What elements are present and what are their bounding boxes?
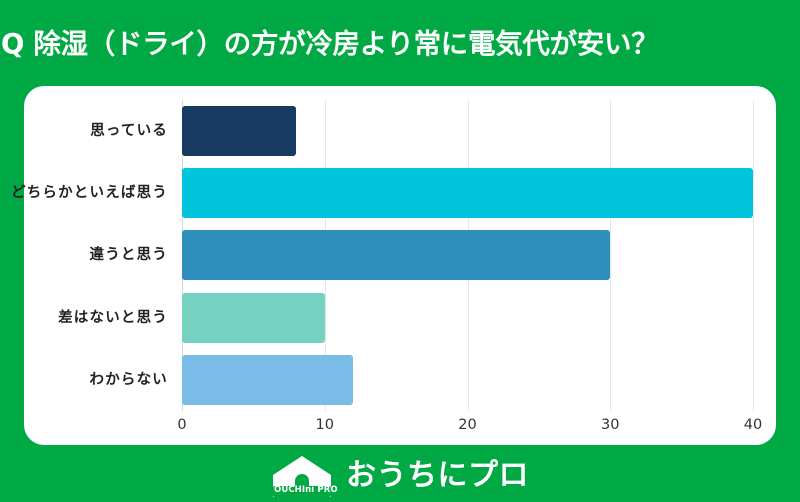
category-label: 差はないと思う xyxy=(58,287,168,349)
logo-wordmark: OUCHIni PRO xyxy=(274,485,330,496)
footer-logo: OUCHIni PRO おうちにプロ xyxy=(0,452,800,500)
logo-text: おうちにプロ xyxy=(346,461,529,491)
bar-row xyxy=(182,162,753,224)
page-title: Q 除湿（ドライ）の方が冷房より常に電気代が安い？ xyxy=(0,22,800,66)
x-tick-label: 30 xyxy=(601,417,619,433)
bar-1 xyxy=(182,106,296,156)
category-label: どちらかといえば思う xyxy=(11,162,168,224)
x-tick-label: 10 xyxy=(316,417,334,433)
bar-row xyxy=(182,100,753,162)
bar-5 xyxy=(182,355,353,405)
bar-2 xyxy=(182,168,753,218)
chart-card: 010203040 思っているどちらかといえば思う違うと思う差はないと思うわから… xyxy=(24,86,776,445)
chart-plot-area: 010203040 xyxy=(182,100,753,411)
category-label: 思っている xyxy=(90,100,168,162)
house-icon: OUCHIni PRO xyxy=(271,455,333,498)
x-tick-label: 40 xyxy=(744,417,762,433)
x-tick-label: 20 xyxy=(458,417,476,433)
bar-row xyxy=(182,287,753,349)
gridline-40 xyxy=(753,100,754,411)
bar-row xyxy=(182,349,753,411)
category-label: わからない xyxy=(90,349,169,411)
bar-4 xyxy=(182,293,325,343)
slide-canvas: Q 除湿（ドライ）の方が冷房より常に電気代が安い？ 010203040 思ってい… xyxy=(0,0,800,500)
x-tick-label: 0 xyxy=(177,417,186,433)
bar-3 xyxy=(182,230,610,280)
bar-row xyxy=(182,224,753,286)
category-label: 違うと思う xyxy=(90,224,169,286)
